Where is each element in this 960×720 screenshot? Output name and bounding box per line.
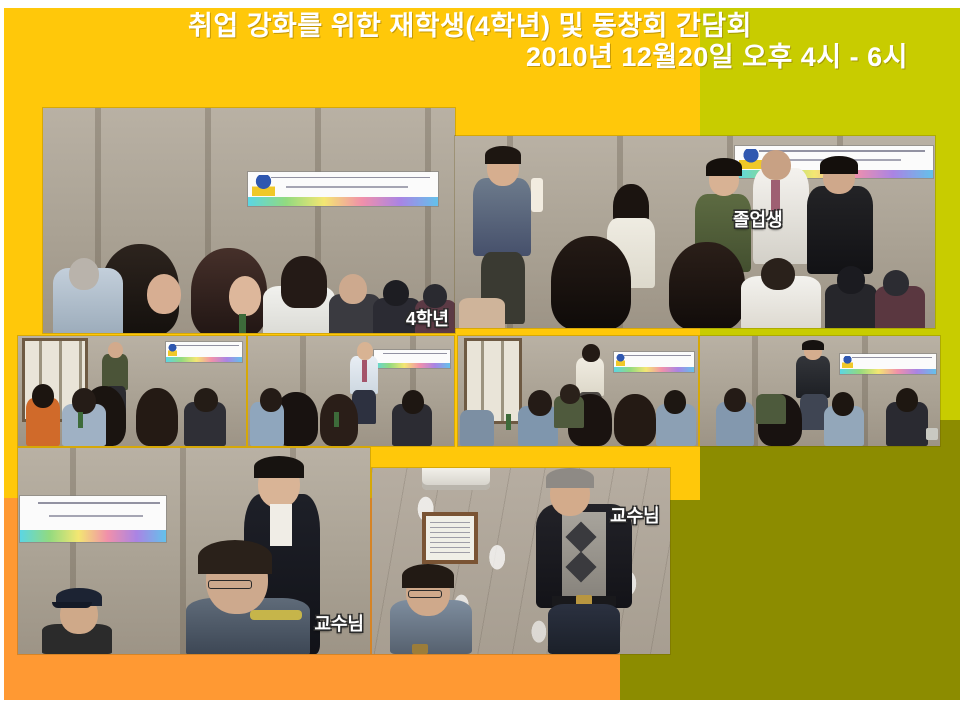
attendee-figure — [832, 392, 854, 416]
event-banner — [840, 354, 936, 374]
photo-students-table[interactable]: 4학년 — [43, 108, 455, 333]
attendee-figure — [896, 388, 918, 412]
photo-scene — [248, 336, 454, 446]
speaker-figure — [796, 356, 830, 398]
background-white-left-edge — [0, 0, 4, 720]
professor-hair — [546, 468, 594, 488]
banner-text-line-2 — [49, 515, 142, 517]
attendee-figure — [560, 384, 580, 404]
attendee-hair — [402, 564, 454, 588]
banner-text-line-1 — [38, 502, 161, 504]
event-banner — [374, 350, 450, 368]
attendee-figure — [69, 258, 99, 290]
attendee-figure — [614, 394, 656, 446]
attendee-figure — [402, 390, 424, 414]
banner-color-strip — [840, 369, 936, 374]
attendee-figure — [320, 394, 358, 446]
table-bottle — [78, 412, 83, 428]
banner-logo-icon — [739, 149, 763, 169]
table-bottle — [239, 314, 246, 333]
photo-professor-suit[interactable]: 교수님 — [18, 448, 370, 654]
speaker-hair — [802, 340, 824, 350]
attendee-figure — [229, 276, 261, 316]
attendee-figure — [756, 394, 786, 424]
banner-color-strip — [20, 530, 166, 542]
eyeglasses-icon — [208, 580, 252, 589]
speaker-figure — [576, 358, 604, 396]
background-white-top-edge — [0, 0, 960, 8]
graduate-hair — [706, 158, 742, 176]
table-cup — [412, 644, 428, 654]
photo-caption-professor-vest: 교수님 — [610, 502, 660, 528]
speaker-figure — [473, 178, 531, 256]
necktie-icon — [362, 360, 367, 382]
photo-scene — [458, 336, 698, 446]
photo-graduates-standing[interactable]: 졸업생 — [455, 136, 935, 328]
background-white-bottom-edge — [0, 700, 960, 720]
speaker-figure — [357, 342, 373, 360]
dress-shirt — [270, 504, 292, 546]
banner-color-strip — [374, 363, 450, 368]
table-bottle — [506, 414, 511, 430]
attendee-figure — [761, 258, 795, 290]
photo-room-mid[interactable] — [248, 336, 454, 446]
banner-text-line-1 — [175, 345, 239, 347]
photo-professor-vest[interactable]: 교수님 — [372, 468, 670, 654]
graduate-figure — [761, 150, 791, 180]
attendee-figure — [883, 270, 909, 296]
banner-color-strip — [248, 197, 438, 206]
attendee-figure — [72, 388, 96, 414]
attendee-figure — [459, 298, 505, 328]
attendee-figure — [460, 410, 494, 446]
attendee-figure — [551, 236, 631, 328]
attendee-figure — [147, 274, 181, 314]
photo-scene — [43, 108, 455, 333]
attendee-figure — [339, 274, 367, 304]
speaker-figure — [102, 354, 128, 390]
banner-text-line-1 — [624, 355, 691, 357]
banner-color-strip — [614, 367, 694, 372]
table-cup — [926, 428, 938, 440]
attendee-figure — [669, 242, 745, 328]
attendee-figure — [528, 390, 552, 416]
photo-caption-graduates: 졸업생 — [733, 206, 783, 232]
attendee-figure — [281, 256, 327, 308]
speaker-hair — [485, 146, 521, 164]
photo-room-left[interactable] — [18, 336, 246, 446]
attendee-figure — [383, 280, 409, 306]
banner-text-line-1 — [383, 353, 447, 355]
attendee-figure — [136, 388, 178, 446]
photo-caption-professor-suit: 교수님 — [314, 610, 364, 636]
photo-room-right2[interactable] — [700, 336, 940, 446]
attendee-figure — [837, 266, 865, 294]
event-banner — [20, 496, 166, 542]
attendee-figure — [724, 388, 746, 412]
attendee-figure — [260, 388, 282, 412]
neck-scarf — [250, 610, 302, 620]
photo-room-right1[interactable] — [458, 336, 698, 446]
microphone-icon — [531, 178, 543, 212]
speaker-figure — [582, 344, 600, 362]
attendee-figure — [194, 388, 218, 412]
banner-text-line-1 — [852, 357, 933, 359]
photo-scene — [18, 336, 246, 446]
banner-color-strip — [166, 357, 242, 362]
framed-notice-text — [430, 522, 470, 554]
graduate-hair — [820, 156, 858, 174]
professor-figure — [548, 604, 620, 654]
banner-text-line-1 — [271, 177, 431, 179]
event-banner — [614, 352, 694, 372]
photo-scene — [455, 136, 935, 328]
attendee-hair — [198, 540, 272, 574]
attendee-figure — [32, 384, 54, 408]
baseball-cap-brim — [52, 602, 92, 608]
presentation-slide: 취업 강화를 위한 재학생(4학년) 및 동창회 간담회 2010년 12월20… — [0, 0, 960, 720]
banner-logo-icon — [252, 175, 275, 196]
event-banner — [166, 342, 242, 362]
eyeglasses-icon — [408, 590, 442, 598]
photo-scene — [372, 468, 670, 654]
graduate-figure — [807, 186, 873, 274]
speaker-figure — [108, 342, 123, 358]
table-bottle — [334, 412, 339, 427]
professor-hair — [254, 456, 304, 478]
air-conditioner — [422, 468, 490, 490]
photo-scene — [700, 336, 940, 446]
attendee-figure — [664, 390, 686, 414]
event-banner — [248, 172, 438, 206]
photo-caption-4th-year: 4학년 — [406, 305, 449, 331]
banner-text-line-2 — [286, 186, 408, 188]
